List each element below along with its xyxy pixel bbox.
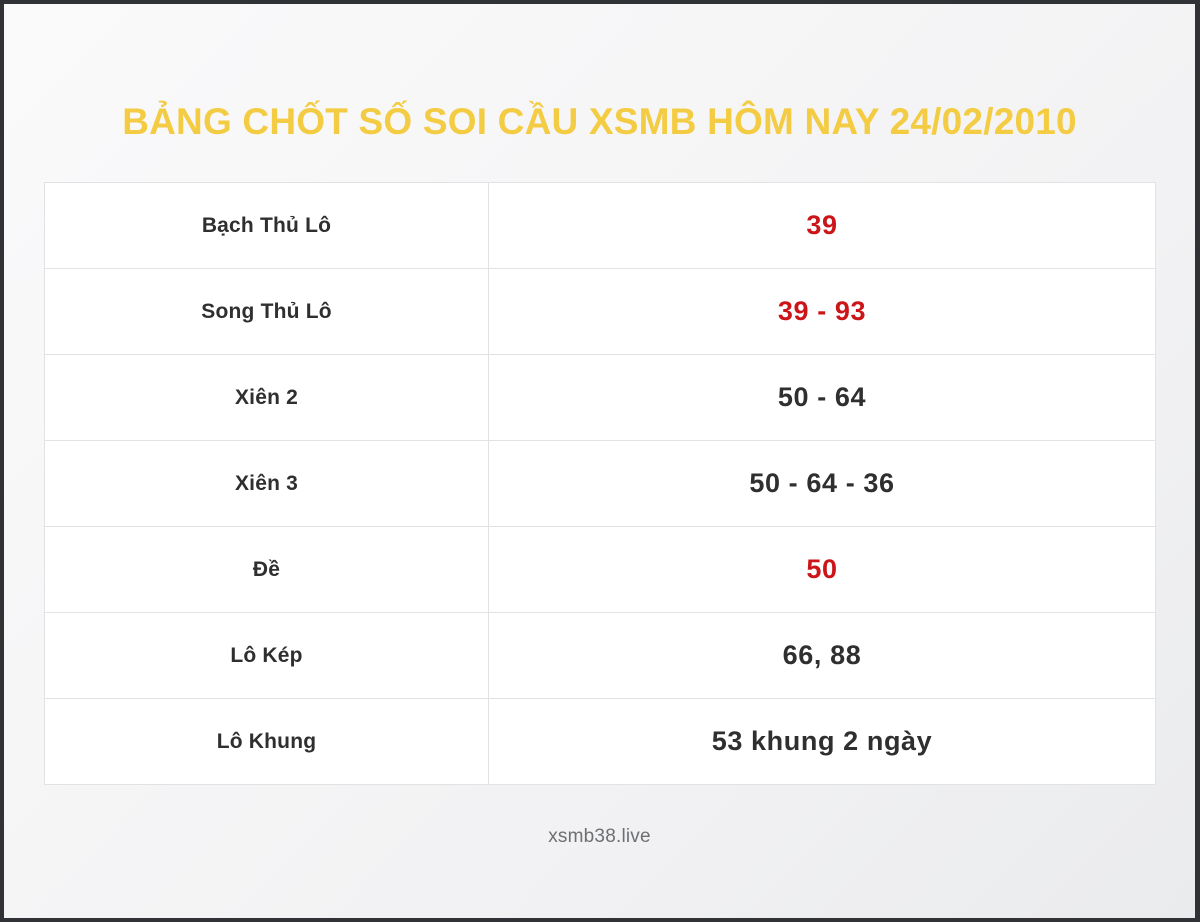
table-row: Xiên 250 - 64: [45, 355, 1155, 441]
table-row: Đề50: [45, 527, 1155, 613]
table-row: Xiên 350 - 64 - 36: [45, 441, 1155, 527]
table-row: Lô Khung53 khung 2 ngày: [45, 699, 1155, 785]
table-cell-label: Xiên 3: [45, 441, 489, 526]
table-cell-value: 50 - 64 - 36: [489, 441, 1155, 526]
table-row: Song Thủ Lô39 - 93: [45, 269, 1155, 355]
table-row: Bạch Thủ Lô39: [45, 183, 1155, 269]
table-cell-value: 66, 88: [489, 613, 1155, 698]
table-cell-value: 50: [489, 527, 1155, 612]
table-cell-label: Xiên 2: [45, 355, 489, 440]
page-frame: BẢNG CHỐT SỐ SOI CẦU XSMB HÔM NAY 24/02/…: [0, 0, 1200, 922]
table-cell-label: Bạch Thủ Lô: [45, 183, 489, 268]
table-cell-label: Song Thủ Lô: [45, 269, 489, 354]
table-row: Lô Kép66, 88: [45, 613, 1155, 699]
page-title: BẢNG CHỐT SỐ SOI CẦU XSMB HÔM NAY 24/02/…: [4, 98, 1195, 146]
table-cell-value: 39: [489, 183, 1155, 268]
table-cell-label: Lô Khung: [45, 699, 489, 784]
prediction-table: Bạch Thủ Lô39Song Thủ Lô39 - 93Xiên 250 …: [44, 182, 1156, 785]
table-cell-value: 39 - 93: [489, 269, 1155, 354]
table-cell-label: Lô Kép: [45, 613, 489, 698]
page-content: BẢNG CHỐT SỐ SOI CẦU XSMB HÔM NAY 24/02/…: [4, 4, 1195, 918]
table-cell-value: 53 khung 2 ngày: [489, 699, 1155, 784]
table-cell-value: 50 - 64: [489, 355, 1155, 440]
table-cell-label: Đề: [45, 527, 489, 612]
footer-site-label: xsmb38.live: [4, 826, 1195, 848]
